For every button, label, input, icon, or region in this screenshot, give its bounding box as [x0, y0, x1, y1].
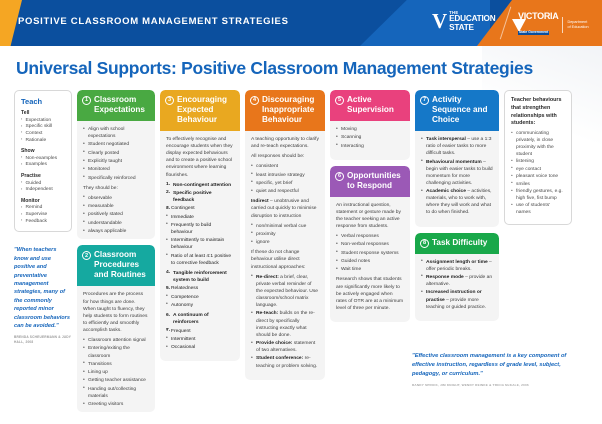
teacher-behaviours-list: communicating privately, in close proxim… — [511, 131, 565, 217]
column-4: 5Active SupervisionMovingScanningInterac… — [330, 90, 410, 412]
card-bullet-item: Frequently to build behaviour — [166, 222, 234, 236]
card-bullet-item: Lining up — [83, 369, 149, 376]
teach-list-item: Context — [21, 131, 65, 138]
teach-title: Teach — [21, 97, 65, 106]
card-bullet-item: positively stated — [83, 211, 149, 218]
bottom-quote-text: "Effective classroom management is a key… — [412, 352, 588, 378]
card-definition-term: Re-teach: — [256, 311, 278, 316]
card-bullet-item: Align with school expectations — [83, 126, 149, 140]
card-number-badge: 7 — [420, 96, 429, 105]
column-3: 4Discouraging Inappropriate BehaviourA t… — [245, 90, 325, 412]
card-title: Discouraging Inappropriate Behaviour — [262, 95, 320, 125]
card-bullet-item: Classroom attention signal — [83, 337, 149, 344]
teach-group-list: GuidedIndependent — [21, 181, 65, 194]
card-definition-term: Student conference: — [256, 356, 303, 361]
teacher-behaviour-item: communicating privately, in close proxim… — [511, 131, 565, 158]
bottom-quote-block: "Effective classroom management is a key… — [412, 352, 588, 388]
card-definition-term: Task interspersal — [426, 137, 466, 142]
card-number-badge: 1 — [82, 96, 91, 105]
card-definition-item: Increased instruction or practise – prov… — [421, 289, 493, 310]
card-bullet-list: non/minimal verbal cueproximityignore — [251, 223, 319, 247]
teach-list-item: Feedback — [21, 219, 65, 226]
card-bullet-item: Wait time — [336, 266, 404, 273]
card-bullet-list: MovingScanningInteracting — [336, 126, 404, 150]
card-definition-term: Behavioural momentum — [426, 160, 482, 165]
card-bullet-list: Verbal responsesNon-verbal responsesStud… — [336, 233, 404, 273]
card-number-badge: 2 — [82, 251, 91, 260]
card-definition-list: Assignment length or time – offer period… — [421, 259, 493, 311]
teach-list-item: Rationale — [21, 138, 65, 145]
teacher-behaviour-item: smiles — [511, 182, 565, 189]
card-bullet-item: Non-verbal responses — [336, 241, 404, 248]
bottom-quote-attribution: RANDY SPRICK, JIM KNIGHT, WENDY REINKE &… — [412, 383, 588, 388]
card-header: 8Task Difficulty — [415, 233, 499, 254]
teach-list-item: Specific skill — [21, 124, 65, 131]
card-definition-list: Task interspersal – use a 1:3 ratio of e… — [421, 136, 493, 217]
card-bullet-item: Entering/exiting the classroom — [83, 345, 149, 359]
card-bullet-item: Explicitly taught — [83, 158, 149, 165]
strategy-card-5: 5Active SupervisionMovingScanningInterac… — [330, 90, 410, 160]
card-bullet-list: ContingentImmediateFrequently to build b… — [166, 205, 234, 267]
card-definition-item: Student conference: re-teaching or probl… — [251, 355, 319, 369]
card-bullet-item: Clearly posted — [83, 150, 149, 157]
card-bullet-item: observable — [83, 195, 149, 202]
logo-vertical-rule — [562, 17, 563, 33]
card-number-badge: 8 — [420, 239, 429, 248]
card-bullet-item: Intermittent — [166, 336, 234, 343]
column-2: 3Encouraging Expected BehaviourTo effect… — [160, 90, 240, 412]
card-header: 1Classroom Expectations — [77, 90, 155, 121]
page-header: POSITIVE CLASSROOM MANAGEMENT STRATEGIES… — [0, 0, 602, 46]
card-numbered-list: Non-contingent attention Specific positi… — [166, 182, 234, 352]
teach-group-heading: Tell — [21, 110, 65, 116]
strategy-card-1: 1Classroom ExpectationsAlign with school… — [77, 90, 155, 239]
card-definition-item: Re-direct: a brief, clear, private verba… — [251, 274, 319, 310]
card-bullet-item: Monitored — [83, 166, 149, 173]
card-body: MovingScanningInteracting — [330, 121, 410, 160]
teacher-behaviour-item: use of students' names — [511, 203, 565, 217]
strategy-card-6: 6Opportunities to RespondAn instructiona… — [330, 166, 410, 322]
column-1: 1Classroom ExpectationsAlign with school… — [77, 90, 155, 412]
card-header: 7Activity Sequence and Choice — [415, 90, 499, 131]
teach-groups: TellExpectationSpecific skillContextRati… — [21, 110, 65, 225]
victoria-subtitle: State Government — [518, 31, 549, 35]
card-definition-item: Academic choice – activities, materials,… — [421, 188, 493, 216]
card-title: Activity Sequence and Choice — [432, 95, 494, 125]
teacher-behaviour-item: pleasant voice tone — [511, 174, 565, 181]
card-body: Procedures are the process for how thing… — [77, 286, 155, 412]
card-bullet-item: Competence — [166, 294, 234, 301]
card-bullet-list: FrequentIntermittentOccasional — [166, 328, 234, 352]
card-bullet-item: non/minimal verbal cue — [251, 223, 319, 230]
card-bullet-item: Contingent — [166, 205, 234, 212]
card-number-badge: 4 — [250, 96, 259, 105]
teacher-behaviours-title: Teacher behaviours that strengthen relat… — [511, 97, 565, 128]
card-bullet-list: Classroom attention signalEntering/exiti… — [83, 337, 149, 408]
card-intro-secondary: All responses should be: — [251, 153, 319, 160]
card-bullet-item: Ratio of at least 4:1 positive to correc… — [166, 253, 234, 267]
card-numbered-subitems: RelatednessCompetenceAutonomy — [166, 285, 234, 309]
card-bullet-item: Frequent — [166, 328, 234, 335]
card-numbered-item: Tangible reinforcement system to build — [166, 270, 234, 284]
card-body: Assignment length or time – offer period… — [415, 254, 499, 321]
card-number-badge: 6 — [335, 172, 344, 181]
teacher-behaviours-card: Teacher behaviours that strengthen relat… — [504, 90, 572, 225]
card-bullet-item: Relatedness — [166, 285, 234, 292]
card-bullet-item: Verbal responses — [336, 233, 404, 240]
card-title: Classroom Expectations — [94, 95, 150, 115]
card-bullet-item: Greeting visitors — [83, 401, 149, 408]
card-definition-item: Task interspersal – use a 1:3 ratio of e… — [421, 136, 493, 157]
left-quote-text: "When teachers know and use positive and… — [14, 246, 72, 330]
card-title: Opportunities to Respond — [347, 171, 405, 191]
card-definition-list: Re-direct: a brief, clear, private verba… — [251, 274, 319, 370]
card-bullet-item: Getting teacher assistance — [83, 377, 149, 384]
teach-list-item: Supervise — [21, 212, 65, 219]
card-outro: Research shows that students are signifi… — [336, 276, 404, 312]
card-intro: To effectively recognise and encourage s… — [166, 136, 234, 179]
logo-line-state: STATE — [449, 24, 495, 32]
left-quote-block: "When teachers know and use positive and… — [14, 238, 72, 344]
card-bullet-list: consistentleast intrusive strategyspecif… — [251, 163, 319, 195]
card-bullet-item: Immediate — [166, 214, 234, 221]
teach-group-heading: Monitor — [21, 198, 65, 204]
card-header: 4Discouraging Inappropriate Behaviour — [245, 90, 325, 131]
card-number-badge: 3 — [165, 96, 174, 105]
teach-group-heading: Show — [21, 148, 65, 154]
card-paragraph-secondary: If these do not change behaviour utilise… — [251, 249, 319, 270]
card-bullet-item: Scanning — [336, 134, 404, 141]
card-definition-item: Provide choice: statement of two alterna… — [251, 340, 319, 354]
card-indirect-term: Indirect — [251, 199, 269, 204]
strategy-card-8: 8Task DifficultyAssignment length or tim… — [415, 233, 499, 321]
teacher-behaviour-item: friendly gestures, e.g. high five, fist … — [511, 189, 565, 203]
education-state-logo: V THE EDUCATION STATE — [432, 11, 495, 32]
card-definition-term: Response mode — [426, 275, 464, 280]
card-body: A teaching opportunity to clarify and re… — [245, 131, 325, 380]
teacher-behaviour-item: listening — [511, 159, 565, 166]
card-bullet-item: Guided notes — [336, 258, 404, 265]
card-header: 6Opportunities to Respond — [330, 166, 410, 197]
dept-line-2: of Education — [567, 25, 588, 30]
card-definition-item: Assignment length or time – offer period… — [421, 259, 493, 273]
card-bullet-item: quiet and respectful — [251, 188, 319, 195]
card-title: Classroom Procedures and Routines — [94, 250, 150, 280]
card-bullet-item: Autonomy — [166, 302, 234, 309]
card-bullet-item: consistent — [251, 163, 319, 170]
strategy-card-2: 2Classroom Procedures and RoutinesProced… — [77, 245, 155, 412]
column-teach: Teach TellExpectationSpecific skillConte… — [14, 90, 72, 412]
strategy-card-3: 3Encouraging Expected BehaviourTo effect… — [160, 90, 240, 361]
card-body: An instructional question, statement or … — [330, 197, 410, 322]
card-definition-term: Increased instruction or practise — [426, 290, 482, 302]
card-numbered-subitems: FrequentIntermittentOccasional — [166, 328, 234, 352]
card-bullet-item: understandable — [83, 220, 149, 227]
card-definition-item: Response mode – provide an alternative. — [421, 274, 493, 288]
card-header: 2Classroom Procedures and Routines — [77, 245, 155, 286]
card-intro: An instructional question, statement or … — [336, 202, 404, 230]
strategy-card-7: 7Activity Sequence and ChoiceTask inters… — [415, 90, 499, 227]
card-bullet-list: RelatednessCompetenceAutonomy — [166, 285, 234, 309]
banner-title: POSITIVE CLASSROOM MANAGEMENT STRATEGIES — [18, 16, 289, 27]
card-definition-term: Academic choice — [426, 189, 466, 194]
card-definition-item: Behavioural momentum – begin with easier… — [421, 159, 493, 187]
card-bullet-item: Handing out/collecting materials — [83, 386, 149, 400]
card-bullet-item: specific, yet brief — [251, 180, 319, 187]
teach-card: Teach TellExpectationSpecific skillConte… — [14, 90, 72, 232]
card-bullet-item: measurable — [83, 203, 149, 210]
left-quote-attribution: BRENDA SCHEUERMANN & JUDY HALL, 2008 — [14, 335, 72, 344]
card-bullet-item: ignore — [251, 239, 319, 246]
card-definition-term: Provide choice: — [256, 341, 292, 346]
card-title: Encouraging Expected Behaviour — [177, 95, 235, 125]
teach-list-item: Examples — [21, 162, 65, 169]
card-header: 5Active Supervision — [330, 90, 410, 121]
victoria-government-logo: VICTORIA State Government Department of … — [512, 12, 589, 38]
card-bullet-list: observablemeasurablepositively statedund… — [83, 195, 149, 235]
teacher-behaviour-item: eye contact — [511, 167, 565, 174]
card-numbered-subitems: ContingentImmediateFrequently to build b… — [166, 205, 234, 267]
card-bullet-item: Specifically reinforced — [83, 175, 149, 182]
card-header: 3Encouraging Expected Behaviour — [160, 90, 240, 131]
card-bullet-item: Transitions — [83, 361, 149, 368]
card-bullet-item: Moving — [336, 126, 404, 133]
card-intro: Procedures are the process for how thing… — [83, 291, 149, 334]
card-number-badge: 5 — [335, 96, 344, 105]
card-title: Task Difficulty — [432, 238, 487, 248]
teach-group-list: ExpectationSpecific skillContextRational… — [21, 118, 65, 145]
card-body: Task interspersal – use a 1:3 ratio of e… — [415, 131, 499, 227]
card-subtext: They should be: — [83, 185, 149, 192]
card-bullet-item: always applicable — [83, 228, 149, 235]
card-definition-item: Re-teach: builds on the re-direct by spe… — [251, 310, 319, 338]
card-numbered-item: A continuum of reinforcers — [166, 312, 234, 326]
victoria-name: VICTORIA — [518, 12, 558, 21]
teach-group-list: RemindSuperviseFeedback — [21, 205, 65, 225]
teach-list-item: Independent — [21, 187, 65, 194]
card-bullet-item: Intermittently to maintain behaviour — [166, 237, 234, 251]
v-chevron-icon: V — [432, 11, 447, 32]
card-definition-term: Assignment length or time — [426, 260, 488, 265]
card-bullet-item: proximity — [251, 231, 319, 238]
teach-group-list: Non-examplesExamples — [21, 156, 65, 169]
card-bullet-item: Student response systems — [336, 250, 404, 257]
infographic-page: POSITIVE CLASSROOM MANAGEMENT STRATEGIES… — [0, 0, 602, 424]
card-title: Active Supervision — [347, 95, 405, 115]
page-title: Universal Supports: Positive Classroom M… — [16, 58, 533, 79]
card-bullet-list: Align with school expectationsStudent ne… — [83, 126, 149, 182]
strategy-card-4: 4Discouraging Inappropriate BehaviourA t… — [245, 90, 325, 380]
card-bullet-item: Student negotiated — [83, 141, 149, 148]
card-definition-term: Re-direct: — [256, 275, 279, 280]
card-numbered-item: Specific positive feedback — [166, 190, 234, 204]
card-intro: A teaching opportunity to clarify and re… — [251, 136, 319, 150]
teach-group-heading: Practise — [21, 173, 65, 179]
card-body: Align with school expectationsStudent ne… — [77, 121, 155, 239]
card-bullet-item: Interacting — [336, 143, 404, 150]
card-bullet-item: least intrusive strategy — [251, 172, 319, 179]
card-bullet-item: Occasional — [166, 344, 234, 351]
card-body: To effectively recognise and encourage s… — [160, 131, 240, 361]
card-numbered-item: Non-contingent attention — [166, 182, 234, 189]
card-indirect-paragraph: Indirect – unobtrusive and carried out q… — [251, 198, 319, 219]
